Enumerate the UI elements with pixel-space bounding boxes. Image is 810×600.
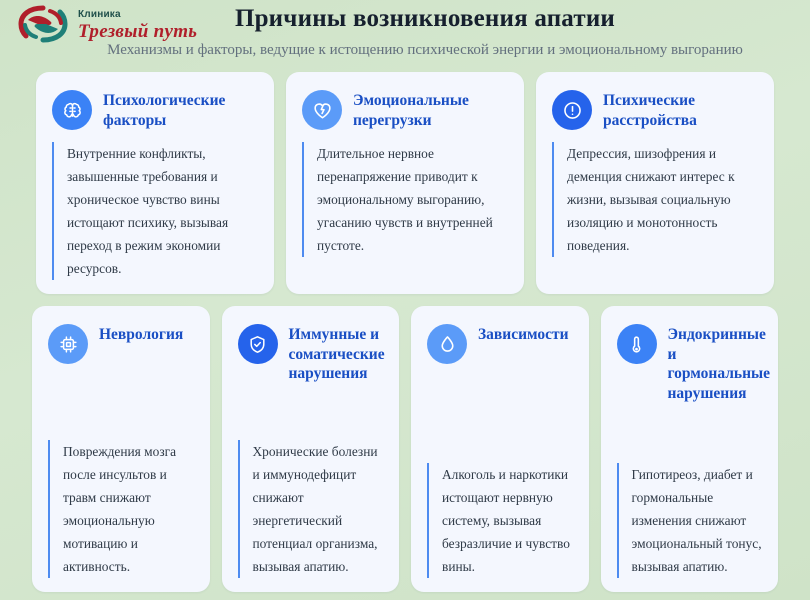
card-emotional-overload: Эмоциональные перегрузки Длительное нерв… xyxy=(286,72,524,294)
card-header: Неврология xyxy=(48,322,194,364)
brain-icon xyxy=(52,90,92,130)
card-title: Эмоциональные перегрузки xyxy=(353,88,508,130)
cpu-chip-icon xyxy=(48,324,88,364)
card-neurology: Неврология Повреждения мозга после инсул… xyxy=(32,306,210,592)
infographic-page: Клиника Трезвый путь Причины возникновен… xyxy=(0,0,810,600)
card-body: Внутренние конфликты, завышенные требова… xyxy=(52,142,258,280)
card-row-bottom: Неврология Повреждения мозга после инсул… xyxy=(0,306,810,592)
card-mental-disorders: Психические расстройства Депрессия, шизо… xyxy=(536,72,774,294)
card-header: Иммунные и соматические нарушения xyxy=(238,322,384,384)
card-endocrine-hormonal: Эндокринные и гормональные нарушения Гип… xyxy=(601,306,779,592)
card-body: Хронические болезни и иммунодефицит сниж… xyxy=(238,440,384,578)
card-body: Депрессия, шизофрения и деменция снижают… xyxy=(552,142,758,257)
card-header: Зависимости xyxy=(427,322,573,364)
alert-circle-icon xyxy=(552,90,592,130)
card-body: Алкоголь и наркотики истощают нервную си… xyxy=(427,463,573,578)
card-title: Психологические факторы xyxy=(103,88,258,130)
card-header: Эмоциональные перегрузки xyxy=(302,88,508,130)
page-title: Причины возникновения апатии xyxy=(0,5,810,33)
card-body: Длительное нервное перенапряжение привод… xyxy=(302,142,508,257)
card-body: Повреждения мозга после инсультов и трав… xyxy=(48,440,194,578)
shield-check-icon xyxy=(238,324,278,364)
card-title: Зависимости xyxy=(478,322,569,345)
card-title: Психические расстройства xyxy=(603,88,758,130)
header: Клиника Трезвый путь Причины возникновен… xyxy=(0,0,810,72)
card-header: Эндокринные и гормональные нарушения xyxy=(617,322,763,403)
card-title: Иммунные и соматические нарушения xyxy=(289,322,385,384)
droplet-icon xyxy=(427,324,467,364)
card-addictions: Зависимости Алкоголь и наркотики истощаю… xyxy=(411,306,589,592)
card-title: Неврология xyxy=(99,322,183,345)
card-body: Гипотиреоз, диабет и гормональные измене… xyxy=(617,463,763,578)
card-title: Эндокринные и гормональные нарушения xyxy=(668,322,771,403)
page-subtitle: Механизмы и факторы, ведущие к истощению… xyxy=(0,42,810,59)
card-psychological-factors: Психологические факторы Внутренние конфл… xyxy=(36,72,274,294)
card-row-top: Психологические факторы Внутренние конфл… xyxy=(0,72,810,294)
card-header: Психические расстройства xyxy=(552,88,758,130)
thermometer-icon xyxy=(617,324,657,364)
card-header: Психологические факторы xyxy=(52,88,258,130)
card-immune-somatic: Иммунные и соматические нарушения Хронич… xyxy=(222,306,400,592)
broken-heart-icon xyxy=(302,90,342,130)
